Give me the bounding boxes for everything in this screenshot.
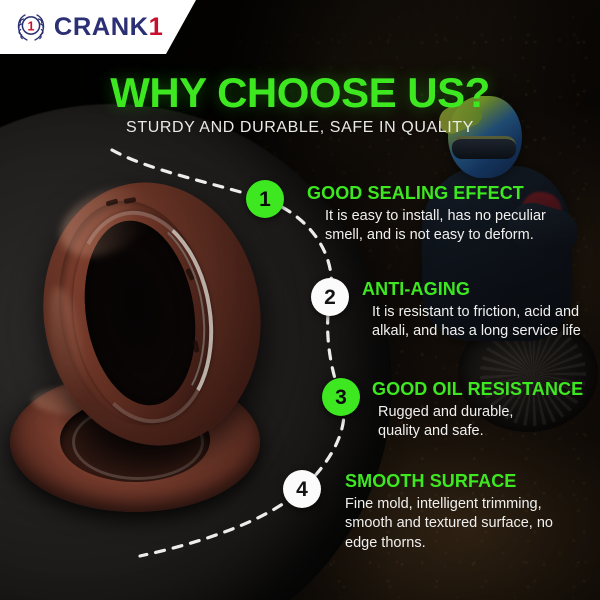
why-choose-us-poster: 1 CRANK1 WHY CHOOSE US? STURDY AND DURAB… bbox=[0, 0, 600, 600]
feature-line: smell, and is not easy to deform. bbox=[325, 226, 593, 245]
feature-line: Rugged and durable, bbox=[378, 403, 600, 422]
laurel-wreath-number-one-icon: 1 bbox=[14, 10, 48, 44]
feature-block-2: ANTI-AGING It is resistant to friction, … bbox=[362, 279, 600, 342]
feature-line: edge thorns. bbox=[345, 534, 597, 553]
feature-line: It is easy to install, has no peculiar bbox=[325, 207, 593, 226]
step-number: 3 bbox=[335, 387, 347, 408]
feature-line: Fine mold, intelligent trimming, bbox=[345, 495, 597, 514]
feature-title-3: GOOD OIL RESISTANCE bbox=[372, 379, 600, 399]
feature-description-3: Rugged and durable, quality and safe. bbox=[372, 403, 600, 442]
feature-line: quality and safe. bbox=[378, 422, 600, 441]
feature-description-2: It is resistant to friction, acid and al… bbox=[362, 303, 600, 342]
page-title: WHY CHOOSE US? bbox=[0, 72, 600, 114]
brand-logo-banner[interactable]: 1 CRANK1 bbox=[0, 0, 196, 54]
feature-block-1: GOOD SEALING EFFECT It is easy to instal… bbox=[307, 183, 593, 246]
page-subtitle: STURDY AND DURABLE, SAFE IN QUALITY bbox=[0, 119, 600, 137]
brand-wordmark: CRANK1 bbox=[54, 15, 163, 40]
feature-title-1: GOOD SEALING EFFECT bbox=[307, 183, 593, 203]
step-marker-1: 1 bbox=[246, 180, 284, 218]
feature-line: It is resistant to friction, acid and bbox=[372, 303, 600, 322]
feature-description-1: It is easy to install, has no peculiar s… bbox=[307, 207, 593, 246]
brand-word-accent: 1 bbox=[149, 13, 164, 41]
feature-line: alkali, and has a long service life bbox=[372, 322, 600, 341]
svg-text:1: 1 bbox=[28, 19, 35, 33]
step-marker-3: 3 bbox=[322, 378, 360, 416]
step-number: 1 bbox=[259, 189, 271, 210]
feature-title-4: SMOOTH SURFACE bbox=[345, 471, 597, 491]
step-number: 4 bbox=[296, 479, 308, 500]
step-number: 2 bbox=[324, 287, 336, 308]
step-marker-4: 4 bbox=[283, 470, 321, 508]
feature-title-2: ANTI-AGING bbox=[362, 279, 600, 299]
feature-line: smooth and textured surface, no bbox=[345, 514, 597, 533]
feature-block-4: SMOOTH SURFACE Fine mold, intelligent tr… bbox=[345, 471, 597, 553]
oil-seal-product-image bbox=[8, 176, 276, 520]
step-marker-2: 2 bbox=[311, 278, 349, 316]
brand-word-main: CRANK bbox=[54, 13, 149, 41]
feature-description-4: Fine mold, intelligent trimming, smooth … bbox=[345, 495, 597, 553]
feature-block-3: GOOD OIL RESISTANCE Rugged and durable, … bbox=[372, 379, 600, 442]
